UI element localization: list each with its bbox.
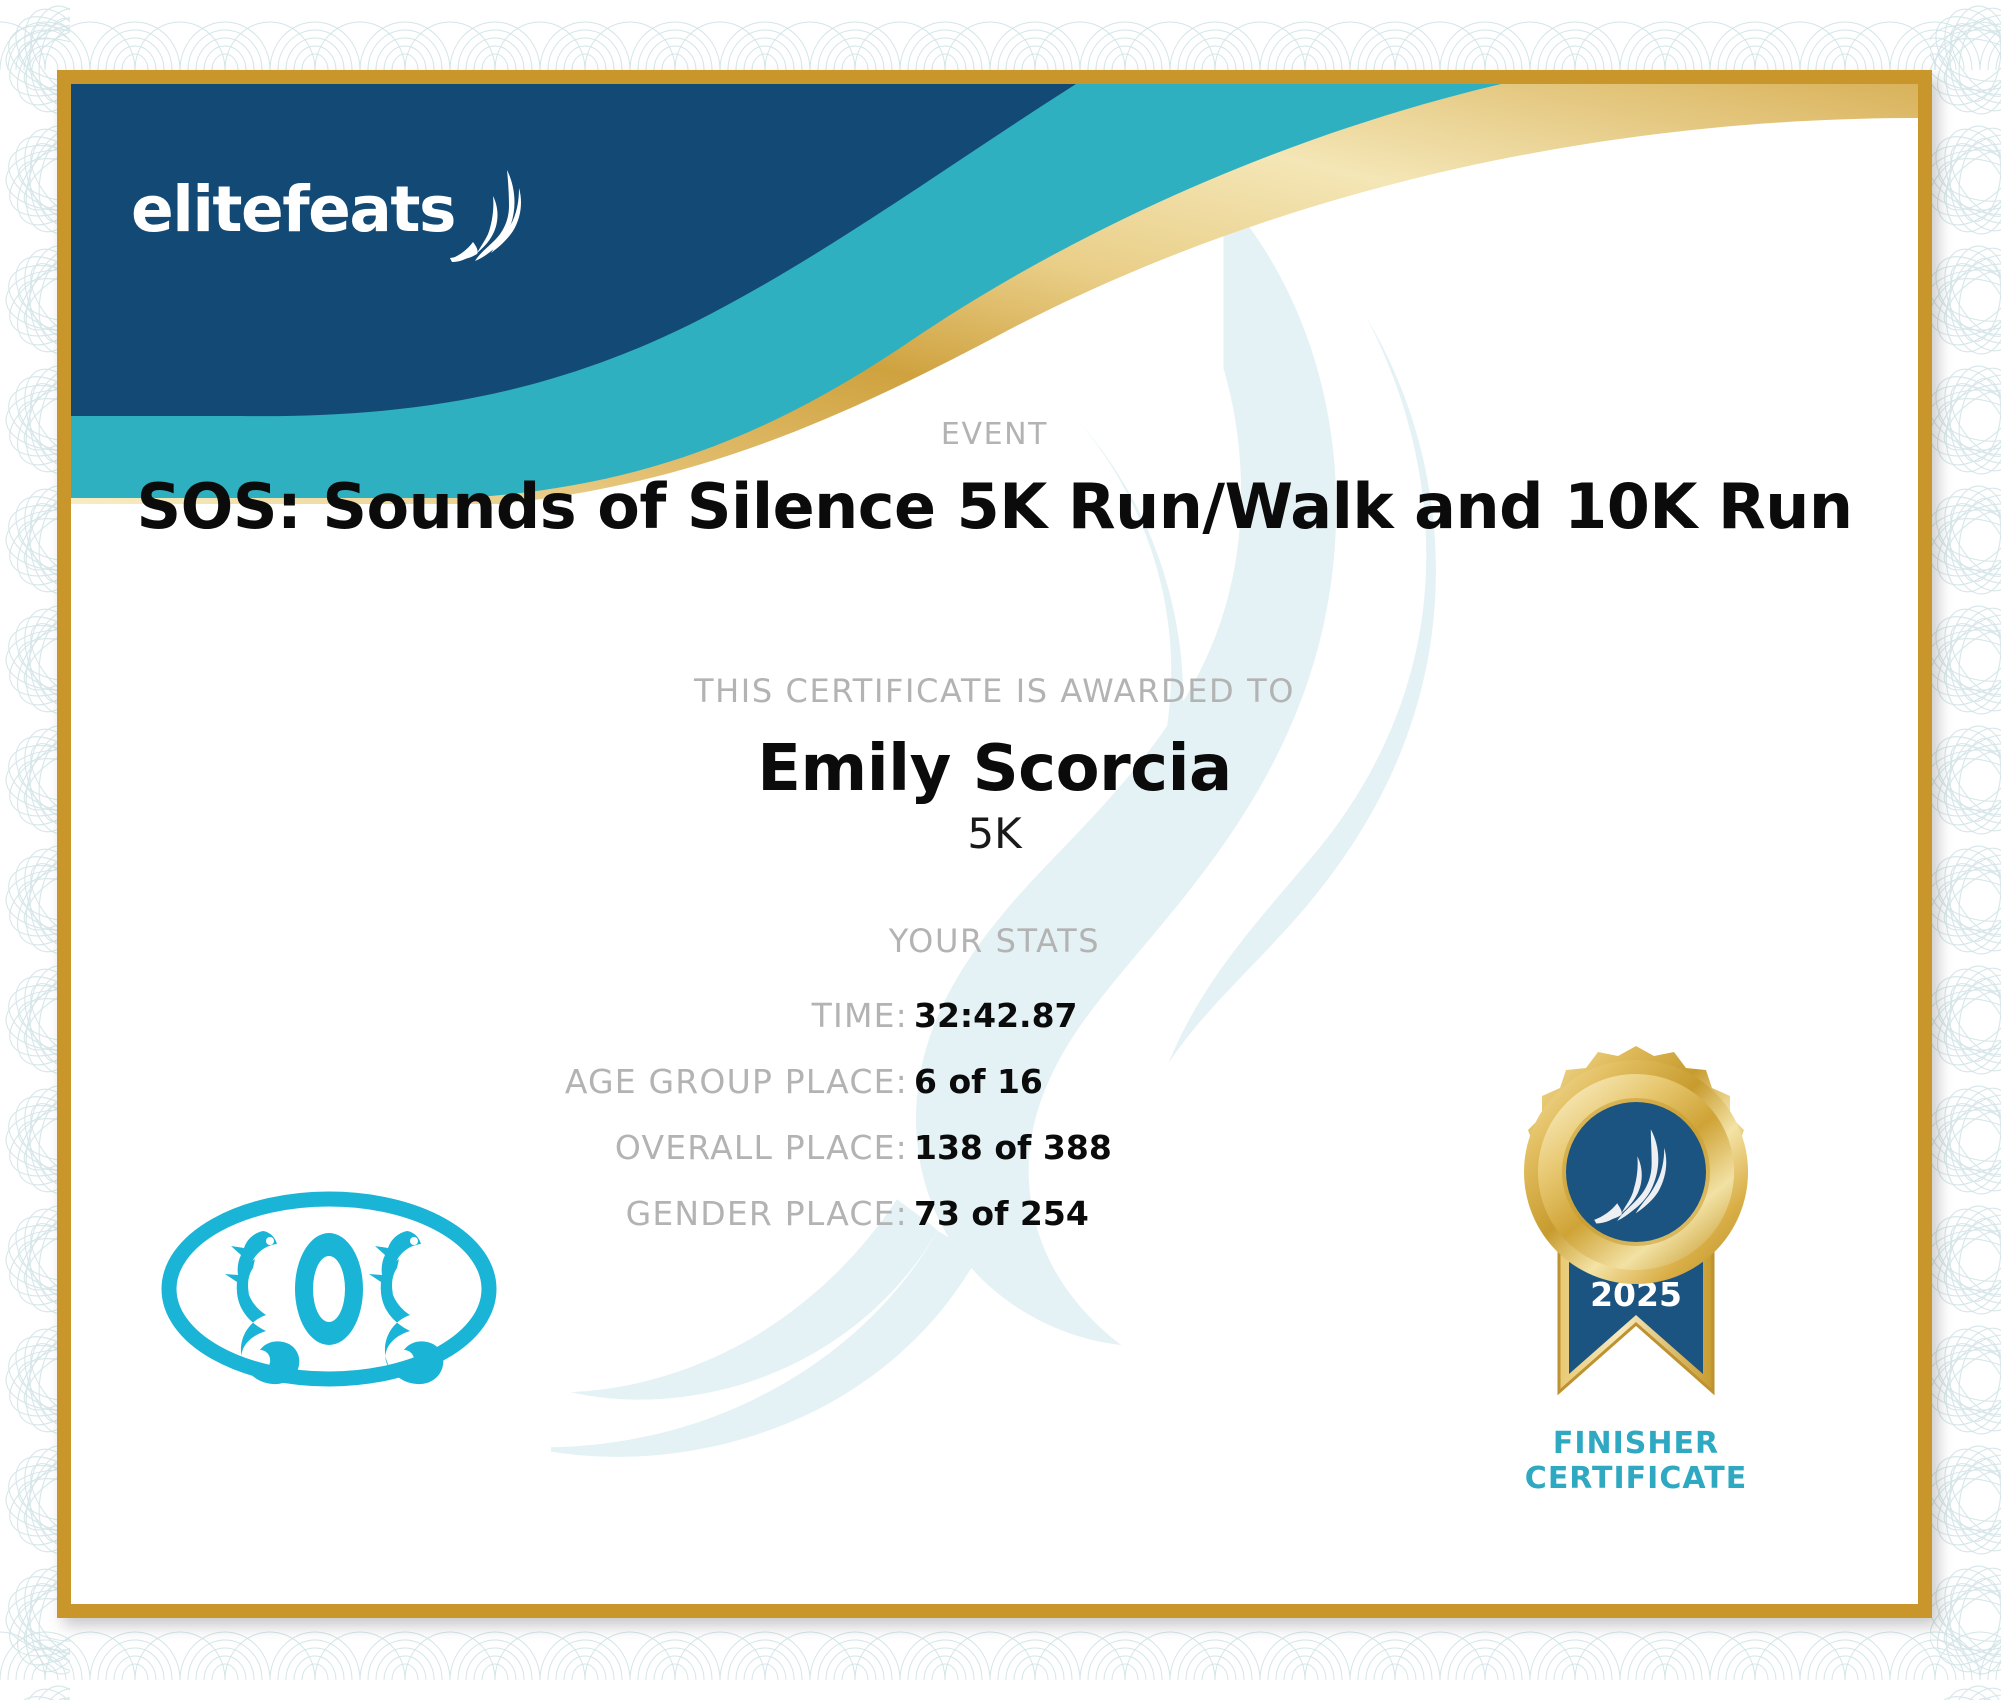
winged-foot-icon [449, 166, 535, 262]
stat-value: 6 of 16 [914, 1062, 1043, 1101]
stat-value: 32:42.87 [914, 996, 1078, 1035]
event-label: EVENT [71, 417, 1918, 452]
medal-caption-line1: FINISHER [1471, 1426, 1801, 1461]
medal-caption: FINISHER CERTIFICATE [1471, 1426, 1801, 1497]
medal-caption-line2: CERTIFICATE [1471, 1461, 1801, 1496]
medal-art: 2025 [1471, 1034, 1801, 1424]
stat-key: AGE GROUP PLACE: [565, 1062, 908, 1101]
event-title: SOS: Sounds of Silence 5K Run/Walk and 1… [71, 470, 1918, 543]
finisher-medal: 2025 [1471, 1034, 1801, 1514]
recipient-name: Emily Scorcia [71, 732, 1918, 806]
brand-logo: elitefeats [131, 154, 551, 264]
your-stats-label: YOUR STATS [71, 922, 1918, 960]
awarded-to-label: THIS CERTIFICATE IS AWARDED TO [71, 672, 1918, 710]
stat-key: OVERALL PLACE: [615, 1128, 908, 1167]
brand-wordmark: elitefeats [131, 178, 455, 241]
gold-border-frame: elitefeats EVENT SOS: Sounds of Silence … [57, 70, 1932, 1618]
stat-key: TIME: [812, 996, 908, 1035]
certificate: elitefeats EVENT SOS: Sounds of Silence … [0, 0, 2001, 1700]
stat-key: GENDER PLACE: [626, 1194, 908, 1233]
recipient-division: 5K [71, 809, 1918, 858]
certificate-card: elitefeats EVENT SOS: Sounds of Silence … [71, 84, 1918, 1604]
certificate-content: EVENT SOS: Sounds of Silence 5K Run/Walk… [71, 84, 1918, 1604]
stat-value: 73 of 254 [914, 1194, 1089, 1233]
sos-seahorse-logo [159, 1189, 499, 1389]
stat-value: 138 of 388 [914, 1128, 1112, 1167]
